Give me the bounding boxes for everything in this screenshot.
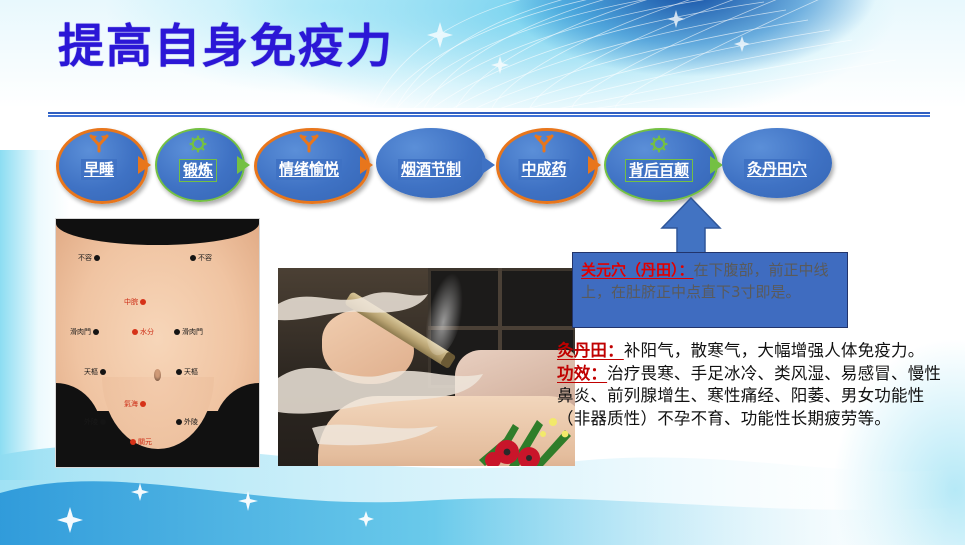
chain-node-label: 锻炼 <box>179 159 217 182</box>
up-arrow-icon <box>660 196 722 260</box>
connector-arrow-2 <box>237 156 250 174</box>
callout-heading: 关元穴（丹田）： <box>581 261 694 279</box>
page-title: 提高自身免疫力 <box>58 22 394 70</box>
connector-arrow-5 <box>588 156 601 174</box>
navel-mark <box>154 369 161 381</box>
acupoint-label: 外陵 <box>174 419 198 426</box>
connector-arrow-4 <box>482 156 495 174</box>
crossed-arrows-icon <box>87 133 111 155</box>
slide-canvas: 提高自身免疫力 早睡 锻炼 <box>0 0 965 545</box>
acupoint-label: 滑肉門 <box>172 329 203 336</box>
acupoint-label: 關元 <box>128 439 152 446</box>
acupoint-diagram-image: 不容 不容 中脘 滑肉門 水分 滑肉門 天樞 天樞 氣海 外陵 外陵 關元 <box>55 218 260 468</box>
chain-node-1[interactable]: 早睡 <box>56 128 142 198</box>
chain-node-6[interactable]: 背后百颠 <box>604 128 714 198</box>
acupoint-label: 不容 <box>78 255 102 262</box>
acupoint-label: 不容 <box>188 255 212 262</box>
crossed-arrows-icon <box>532 133 556 155</box>
gear-icon <box>647 133 671 155</box>
moxibustion-photo <box>278 268 575 466</box>
chain-node-label: 早睡 <box>81 159 117 180</box>
paragraph-moxa: 灸丹田：补阳气，散寒气，大幅增强人体免疫力。 <box>557 340 957 363</box>
callout-box: 关元穴（丹田）：在下腹部，前正中线上，在肚脐正中点直下3寸即是。 <box>572 252 848 328</box>
acupoint-label: 天樞 <box>84 369 108 376</box>
chain-node-4[interactable]: 烟酒节制 <box>376 128 486 198</box>
chain-node-label: 中成药 <box>518 159 569 180</box>
gear-icon <box>186 133 210 155</box>
chain-node-label: 烟酒节制 <box>398 159 464 180</box>
description-text: 灸丹田：补阳气，散寒气，大幅增强人体免疫力。 功效：治疗畏寒、手足冰冷、类风湿、… <box>557 340 957 430</box>
paragraph-moxa-text: 补阳气，散寒气，大幅增强人体免疫力。 <box>624 341 925 360</box>
acupoint-label: 氣海 <box>124 401 148 408</box>
chain-node-3[interactable]: 情绪愉悦 <box>254 128 364 198</box>
process-chain: 早睡 锻炼 情绪愉悦 <box>56 128 846 200</box>
chain-node-label: 灸丹田穴 <box>744 159 810 180</box>
paint-stroke-overlay <box>278 278 488 458</box>
chain-node-2[interactable]: 锻炼 <box>155 128 241 198</box>
paragraph-moxa-label: 灸丹田： <box>557 341 624 360</box>
chain-node-7[interactable]: 灸丹田穴 <box>722 128 832 198</box>
paragraph-effects-label: 功效： <box>557 364 607 383</box>
acupoint-label: 外陵 <box>84 419 108 426</box>
acupoint-label: 天樞 <box>174 369 198 376</box>
chain-node-label: 背后百颠 <box>625 159 693 182</box>
acupoint-label: 中脘 <box>124 299 148 306</box>
connector-arrow-1 <box>138 156 151 174</box>
acupoint-label: 滑肉門 <box>70 329 101 336</box>
chain-node-5[interactable]: 中成药 <box>496 128 592 198</box>
title-divider <box>48 112 930 117</box>
chain-node-label: 情绪愉悦 <box>276 159 342 180</box>
crossed-arrows-icon <box>297 133 321 155</box>
connector-arrow-3 <box>360 156 373 174</box>
paragraph-effects-text: 治疗畏寒、手足冰冷、类风湿、易感冒、慢性鼻炎、前列腺增生、寒性痛经、阳萎、男女功… <box>557 364 941 428</box>
acupoint-label: 水分 <box>130 329 154 336</box>
paragraph-effects: 功效：治疗畏寒、手足冰冷、类风湿、易感冒、慢性鼻炎、前列腺增生、寒性痛经、阳萎、… <box>557 363 957 431</box>
